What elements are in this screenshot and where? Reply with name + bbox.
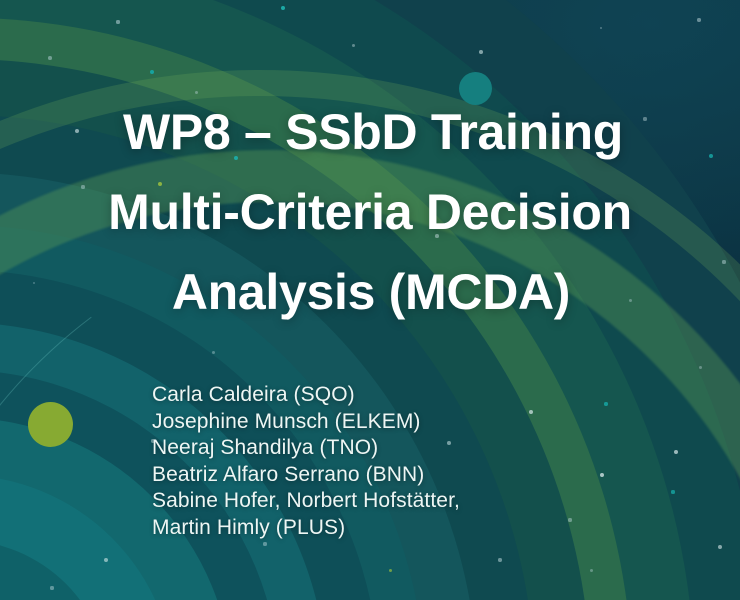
particle-dot [671,490,674,493]
title-slide: WP8 – SSbD Training Multi-Criteria Decis… [0,0,740,600]
author-line: Sabine Hofer, Norbert Hofstätter, [152,488,460,515]
olive-accent-circle [28,402,73,447]
author-line: Martin Himly (PLUS) [152,515,460,542]
author-line: Carla Caldeira (SQO) [152,382,460,409]
particle-dot [718,545,722,549]
slide-title: WP8 – SSbD Training Multi-Criteria Decis… [0,92,740,332]
particle-dot [48,56,52,60]
particle-dot [604,402,607,405]
particle-dot [50,586,53,589]
author-line: Beatriz Alfaro Serrano (BNN) [152,462,460,489]
particle-dot [352,44,355,47]
author-list: Carla Caldeira (SQO) Josephine Munsch (E… [152,382,460,541]
particle-dot [699,366,702,369]
title-line-1: WP8 – SSbD Training [0,92,740,172]
title-line-3: Analysis (MCDA) [0,252,740,332]
particle-dot [116,20,119,23]
particle-dot [590,569,593,572]
particle-dot [697,18,700,21]
author-line: Neeraj Shandilya (TNO) [152,435,460,462]
particle-dot [568,518,571,521]
particle-dot [263,542,266,545]
particle-dot [479,50,483,54]
particle-dot [212,351,215,354]
author-line: Josephine Munsch (ELKEM) [152,409,460,436]
title-line-2: Multi-Criteria Decision [0,172,740,252]
particle-dot [389,569,392,572]
particle-dot [498,558,501,561]
